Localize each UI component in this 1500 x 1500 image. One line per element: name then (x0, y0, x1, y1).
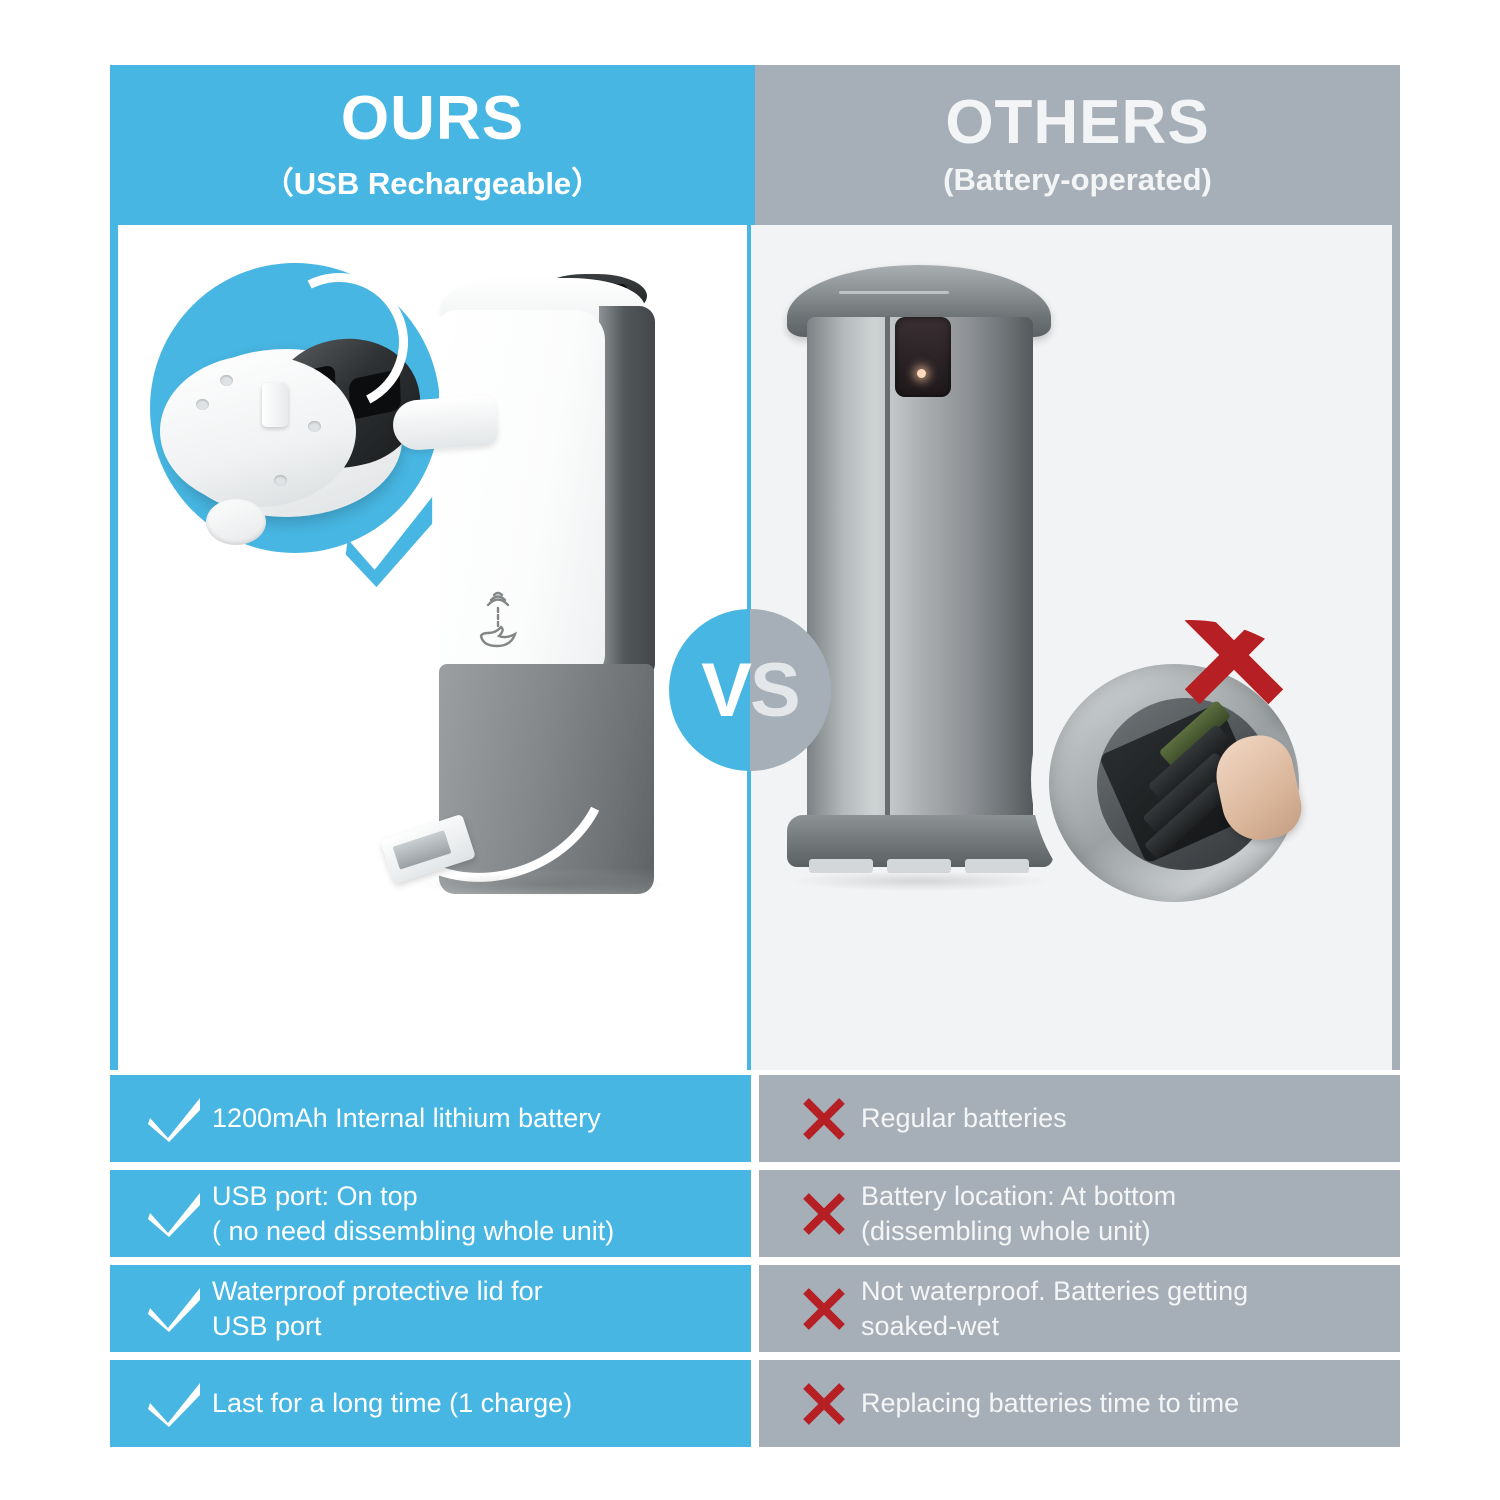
feature-text-line2: ( no need dissembling whole unit) (212, 1214, 614, 1249)
header-others-subtitle: (Battery-operated) (943, 162, 1212, 198)
vs-badge-label: VS (701, 647, 798, 734)
feature-cell-ours: 1200mAh Internal lithium battery (110, 1075, 751, 1162)
usb-port-closeup-inset (150, 263, 440, 553)
feature-text-others: Not waterproof. Batteries getting soaked… (861, 1274, 1248, 1343)
blue-check-icon (340, 495, 436, 591)
feature-text-line1: Not waterproof. Batteries getting (861, 1276, 1248, 1306)
feature-text-line1: 1200mAh Internal lithium battery (212, 1103, 601, 1133)
cap-screw-4 (220, 375, 233, 386)
dispenser-seam (885, 317, 890, 827)
others-dispenser-product (769, 255, 1069, 915)
cap-screw-2 (274, 475, 287, 486)
cross-icon (787, 1095, 861, 1143)
panel-ours-image (110, 225, 751, 1070)
feature-text-line1: Last for a long time (1 charge) (212, 1388, 572, 1418)
dispenser-sensor-window (895, 317, 951, 397)
feature-row: USB port: On top ( no need dissembling w… (110, 1170, 1400, 1257)
feature-text-ours: 1200mAh Internal lithium battery (212, 1101, 601, 1136)
feature-cell-others: Replacing batteries time to time (759, 1360, 1400, 1447)
feature-text-others: Replacing batteries time to time (861, 1386, 1239, 1421)
vs-letter-s: S (750, 648, 799, 733)
feature-text-ours: USB port: On top ( no need dissembling w… (212, 1179, 614, 1248)
cross-icon (787, 1285, 861, 1333)
feature-cell-ours: Last for a long time (1 charge) (110, 1360, 751, 1447)
feature-text-others: Regular batteries (861, 1101, 1067, 1136)
feature-text-line2: USB port (212, 1309, 543, 1344)
sensor-led-icon (917, 369, 926, 378)
check-icon (138, 1191, 212, 1237)
feature-text-line2: (dissembling whole unit) (861, 1214, 1176, 1249)
dispenser-nozzle (391, 394, 498, 451)
dispenser-white-body (439, 310, 605, 682)
base-foot-left (809, 859, 873, 873)
cross-icon (787, 1380, 861, 1428)
feature-cell-ours: USB port: On top ( no need dissembling w… (110, 1170, 751, 1257)
header-others: OTHERS (Battery-operated) (755, 65, 1400, 225)
usb-a-contact (393, 830, 452, 870)
feature-cell-others: Battery location: At bottom (dissembling… (759, 1170, 1400, 1257)
cap-screw-1 (196, 399, 209, 410)
feature-text-others: Battery location: At bottom (dissembling… (861, 1179, 1176, 1248)
feature-text-ours: Waterproof protective lid for USB port (212, 1274, 543, 1343)
ours-product-shadow (418, 873, 668, 897)
usb-plug-connector (262, 383, 288, 427)
others-product-shadow (789, 871, 1051, 891)
feature-text-line1: Battery location: At bottom (861, 1181, 1176, 1211)
waterproof-lid-knob (206, 499, 266, 545)
check-icon (138, 1286, 212, 1332)
feature-cell-ours: Waterproof protective lid for USB port (110, 1265, 751, 1352)
feature-text-line1: USB port: On top (212, 1181, 418, 1211)
red-cross-icon (1179, 620, 1289, 710)
feature-row: Last for a long time (1 charge) Replacin… (110, 1360, 1400, 1447)
feature-comparison-rows: 1200mAh Internal lithium battery Regular… (110, 1075, 1400, 1455)
feature-row: 1200mAh Internal lithium battery Regular… (110, 1075, 1400, 1162)
header-ours: OURS （USB Rechargeable） (110, 65, 755, 225)
vs-letter-v: V (701, 648, 750, 733)
feature-text-line2: soaked-wet (861, 1309, 1248, 1344)
battery-compartment-inset (1031, 620, 1349, 938)
feature-text-ours: Last for a long time (1 charge) (212, 1386, 572, 1421)
check-icon (138, 1381, 212, 1427)
callout-leader-dot (1033, 905, 1049, 921)
header-ours-title: OURS (341, 88, 524, 150)
ours-dispenser-product (423, 260, 663, 900)
motion-sensor-hand-icon (471, 588, 525, 650)
header-others-title: OTHERS (945, 92, 1209, 154)
dispenser-dark-side (599, 306, 655, 678)
header-row: OURS （USB Rechargeable） OTHERS (Battery-… (110, 65, 1400, 225)
feature-text-line1: Replacing batteries time to time (861, 1388, 1239, 1418)
feature-cell-others: Not waterproof. Batteries getting soaked… (759, 1265, 1400, 1352)
panel-others-image (751, 225, 1400, 1070)
cap-screw-3 (308, 421, 321, 432)
cross-icon (787, 1190, 861, 1238)
header-ours-subtitle: （USB Rechargeable） (263, 158, 602, 203)
check-icon (138, 1096, 212, 1142)
base-foot-right (965, 859, 1029, 873)
vs-badge: VS (669, 609, 831, 771)
feature-row: Waterproof protective lid for USB port N… (110, 1265, 1400, 1352)
feature-cell-others: Regular batteries (759, 1075, 1400, 1162)
feature-text-line1: Regular batteries (861, 1103, 1067, 1133)
comparison-infographic: OURS （USB Rechargeable） OTHERS (Battery-… (0, 0, 1500, 1500)
lid-highlight-line (839, 291, 949, 294)
feature-text-line1: Waterproof protective lid for (212, 1276, 543, 1306)
